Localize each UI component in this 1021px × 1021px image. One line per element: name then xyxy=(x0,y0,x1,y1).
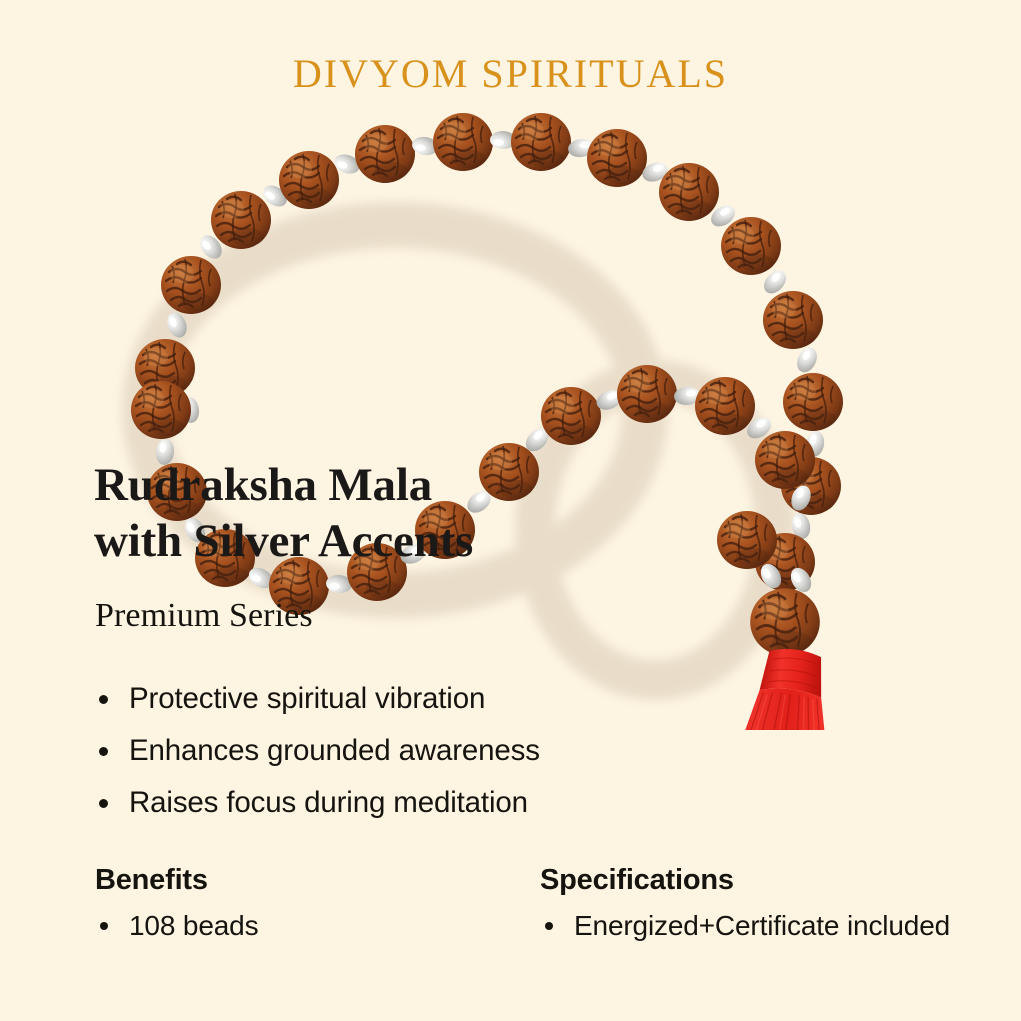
product-image-rudraksha-mala xyxy=(95,110,975,730)
brand-name: DIVYOM SPIRITUALS xyxy=(0,50,1021,97)
product-subtitle: Premium Series xyxy=(95,597,313,635)
product-title-line-1: Rudraksha Mala xyxy=(94,459,432,511)
feature-list: Protective spiritual vibration Enhances … xyxy=(95,673,695,829)
feature-item: Protective spiritual vibration xyxy=(95,673,695,725)
benefits-item: 108 beads xyxy=(95,907,515,944)
specifications-heading: Specifications xyxy=(540,864,970,897)
specifications-item: Energized+Certificate included xyxy=(540,907,970,944)
product-title-line-2: with Silver Accents xyxy=(94,514,473,570)
specifications-column: Specifications Energized+Certificate inc… xyxy=(540,864,970,944)
guru-bead xyxy=(750,588,820,655)
benefits-column: Benefits 108 beads xyxy=(95,864,515,944)
benefits-heading: Benefits xyxy=(95,864,515,897)
product-title: Rudraksha Mala with Silver Accents xyxy=(94,458,473,570)
product-poster: DIVYOM SPIRITUALS xyxy=(0,0,1021,1021)
feature-item: Enhances grounded awareness xyxy=(95,725,695,777)
feature-item: Raises focus during meditation xyxy=(95,777,695,829)
